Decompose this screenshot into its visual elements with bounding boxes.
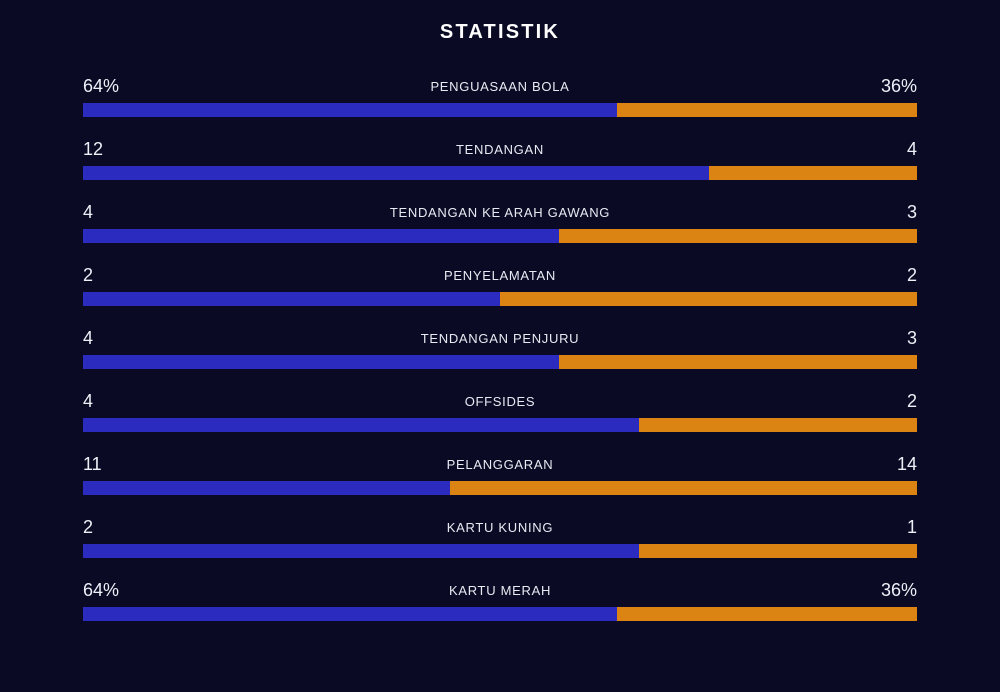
stat-bar-home-segment — [83, 292, 500, 306]
stat-bar-away-segment — [559, 229, 917, 243]
stat-label: KARTU KUNING — [83, 521, 917, 534]
stat-row: 4TENDANGAN PENJURU3 — [83, 321, 917, 384]
stat-row-header: 64%KARTU MERAH36% — [83, 573, 917, 607]
stat-bar-home-segment — [83, 607, 617, 621]
stat-bar-away-segment — [500, 292, 917, 306]
stat-row: 11PELANGGARAN14 — [83, 447, 917, 510]
stat-row: 12TENDANGAN4 — [83, 132, 917, 195]
stat-bar — [83, 103, 917, 117]
stat-label: KARTU MERAH — [83, 584, 917, 597]
stat-label: PENYELAMATAN — [83, 269, 917, 282]
stat-row-header: 11PELANGGARAN14 — [83, 447, 917, 481]
stat-bar-away-segment — [639, 418, 917, 432]
stat-bar — [83, 292, 917, 306]
stat-bar-home-segment — [83, 103, 617, 117]
stat-label: OFFSIDES — [83, 395, 917, 408]
stat-bar-home-segment — [83, 355, 559, 369]
stat-label: PENGUASAAN BOLA — [83, 80, 917, 93]
match-statistics-panel: STATISTIK 64%PENGUASAAN BOLA36%12TENDANG… — [0, 0, 1000, 692]
stat-bar-home-segment — [83, 544, 639, 558]
stat-row-header: 4TENDANGAN KE ARAH GAWANG3 — [83, 195, 917, 229]
stat-row-header: 2PENYELAMATAN2 — [83, 258, 917, 292]
stat-bar-home-segment — [83, 418, 639, 432]
stat-row: 64%PENGUASAAN BOLA36% — [83, 69, 917, 132]
stat-row-header: 4OFFSIDES2 — [83, 384, 917, 418]
stat-label: TENDANGAN PENJURU — [83, 332, 917, 345]
stat-row: 64%KARTU MERAH36% — [83, 573, 917, 636]
stat-bar — [83, 481, 917, 495]
stat-bar-away-segment — [639, 544, 917, 558]
stat-row: 2KARTU KUNING1 — [83, 510, 917, 573]
stat-row-header: 12TENDANGAN4 — [83, 132, 917, 166]
stat-bar-away-segment — [559, 355, 917, 369]
stat-bar-home-segment — [83, 481, 450, 495]
stat-bar — [83, 355, 917, 369]
stat-bar-home-segment — [83, 166, 709, 180]
stat-bar-away-segment — [617, 607, 917, 621]
stat-row: 2PENYELAMATAN2 — [83, 258, 917, 321]
stat-label: TENDANGAN KE ARAH GAWANG — [83, 206, 917, 219]
statistics-list: 64%PENGUASAAN BOLA36%12TENDANGAN44TENDAN… — [0, 69, 1000, 636]
stat-bar — [83, 418, 917, 432]
stat-bar — [83, 166, 917, 180]
stat-row-header: 64%PENGUASAAN BOLA36% — [83, 69, 917, 103]
stat-bar-home-segment — [83, 229, 559, 243]
stat-row: 4OFFSIDES2 — [83, 384, 917, 447]
stat-row: 4TENDANGAN KE ARAH GAWANG3 — [83, 195, 917, 258]
stat-bar-away-segment — [450, 481, 917, 495]
stat-bar — [83, 229, 917, 243]
stat-label: TENDANGAN — [83, 143, 917, 156]
stat-row-header: 4TENDANGAN PENJURU3 — [83, 321, 917, 355]
stat-bar-away-segment — [617, 103, 917, 117]
stat-bar-away-segment — [709, 166, 918, 180]
stat-row-header: 2KARTU KUNING1 — [83, 510, 917, 544]
stat-label: PELANGGARAN — [83, 458, 917, 471]
stat-bar — [83, 607, 917, 621]
page-title: STATISTIK — [0, 0, 1000, 42]
stat-bar — [83, 544, 917, 558]
